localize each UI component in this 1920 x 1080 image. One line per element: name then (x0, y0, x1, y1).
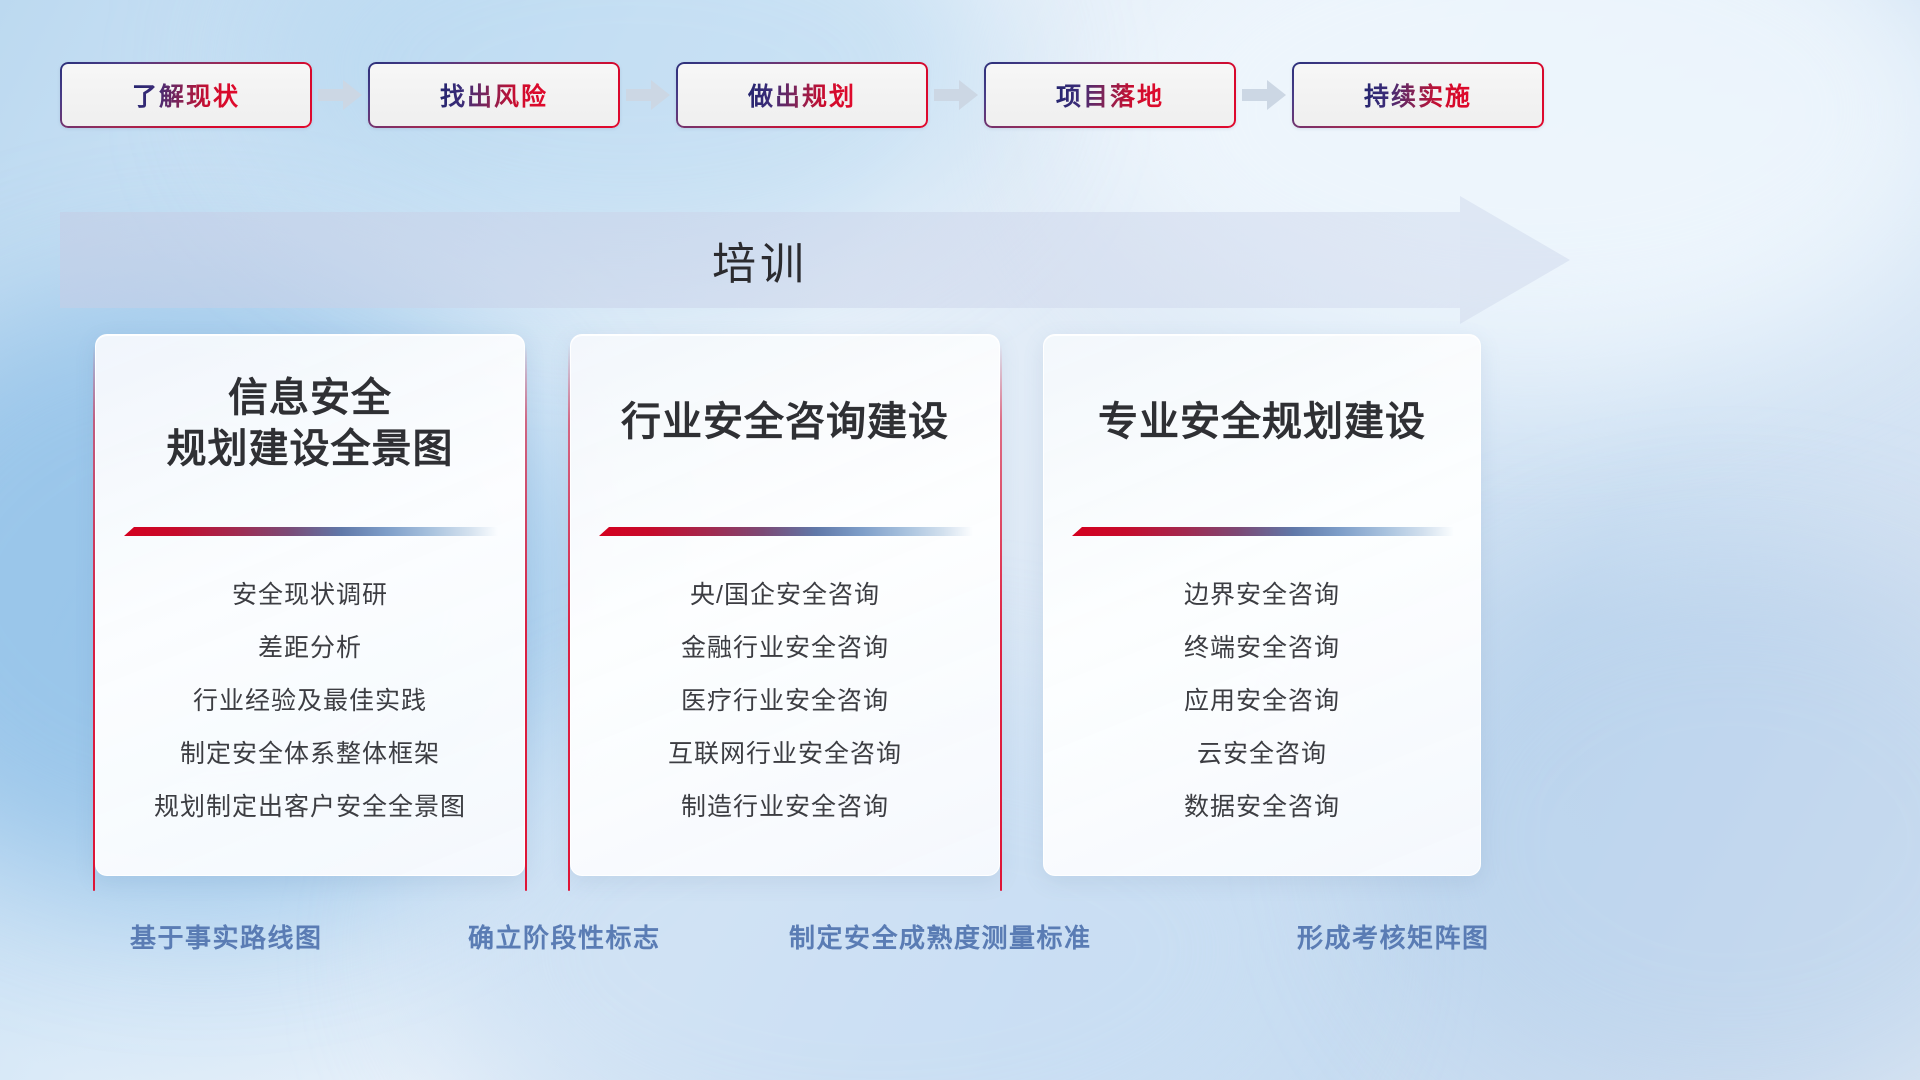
step-box-5[interactable]: 持续实施 (1292, 62, 1544, 128)
card-item-list: 央/国企安全咨询 金融行业安全咨询 医疗行业安全咨询 互联网行业安全咨询 制造行… (571, 575, 999, 823)
card-list-item: 规划制定出客户安全全景图 (96, 787, 524, 823)
step-box-4[interactable]: 项目落地 (984, 62, 1236, 128)
step-label: 持续实施 (1364, 77, 1472, 113)
step-label: 做出规划 (748, 77, 856, 113)
card-edge-accent (568, 345, 570, 891)
card-list-item: 行业经验及最佳实践 (96, 681, 524, 717)
step-box-3[interactable]: 做出规划 (676, 62, 928, 128)
card-edge-accent (525, 345, 527, 891)
card-list-item: 制造行业安全咨询 (571, 787, 999, 823)
card-2[interactable]: 行业安全咨询建设 央/国企安全咨询 金融行业安全咨询 医疗行业安全咨询 互联网行… (570, 334, 1000, 876)
card-divider-rule (124, 527, 498, 536)
step-label: 了解现状 (132, 77, 240, 113)
caption-row: 基于事实路线图 确立阶段性标志 制定安全成熟度测量标准 形成考核矩阵图 (0, 918, 1920, 964)
card-list-item: 制定安全体系整体框架 (96, 734, 524, 770)
caption-2: 确立阶段性标志 (468, 918, 661, 955)
step-box-1[interactable]: 了解现状 (60, 62, 312, 128)
card-list-item: 云安全咨询 (1044, 734, 1480, 770)
card-list-item: 央/国企安全咨询 (571, 575, 999, 611)
card-3[interactable]: 专业安全规划建设 边界安全咨询 终端安全咨询 应用安全咨询 云安全咨询 数据安全… (1043, 334, 1481, 876)
card-list-item: 终端安全咨询 (1044, 628, 1480, 664)
step-arrow-icon-4 (1236, 78, 1292, 112)
card-title: 专业安全规划建设 (1044, 397, 1480, 448)
card-list-item: 安全现状调研 (96, 575, 524, 611)
card-list-item: 互联网行业安全咨询 (571, 734, 999, 770)
step-label: 找出风险 (440, 77, 548, 113)
caption-4: 形成考核矩阵图 (1297, 918, 1490, 955)
card-row: 信息安全 规划建设全景图 安全现状调研 差距分析 行业经验及最佳实践 制定安全体… (0, 334, 1920, 876)
step-label: 项目落地 (1056, 77, 1164, 113)
caption-3: 制定安全成熟度测量标准 (789, 918, 1092, 955)
banner-title: 培训 (60, 212, 1460, 308)
slide-canvas: 了解现状 找出风险 做出规划 项目落地 (0, 0, 1920, 1080)
card-list-item: 差距分析 (96, 628, 524, 664)
card-divider-rule (599, 527, 973, 536)
card-item-list: 安全现状调研 差距分析 行业经验及最佳实践 制定安全体系整体框架 规划制定出客户… (96, 575, 524, 823)
card-divider-rule (1072, 527, 1454, 536)
step-arrow-icon-2 (620, 78, 676, 112)
card-title: 信息安全 规划建设全景图 (96, 373, 524, 475)
card-title: 行业安全咨询建设 (571, 397, 999, 448)
card-list-item: 数据安全咨询 (1044, 787, 1480, 823)
training-banner: 培训 (60, 212, 1520, 308)
card-1[interactable]: 信息安全 规划建设全景图 安全现状调研 差距分析 行业经验及最佳实践 制定安全体… (95, 334, 525, 876)
banner-arrow-head-icon (1460, 196, 1570, 324)
card-edge-accent (93, 345, 95, 891)
step-arrow-icon-3 (928, 78, 984, 112)
card-item-list: 边界安全咨询 终端安全咨询 应用安全咨询 云安全咨询 数据安全咨询 (1044, 575, 1480, 823)
card-list-item: 金融行业安全咨询 (571, 628, 999, 664)
caption-1: 基于事实路线图 (130, 918, 323, 955)
card-list-item: 应用安全咨询 (1044, 681, 1480, 717)
card-edge-accent (1000, 345, 1002, 891)
process-step-row: 了解现状 找出风险 做出规划 项目落地 (60, 62, 1860, 128)
card-list-item: 边界安全咨询 (1044, 575, 1480, 611)
step-arrow-icon-1 (312, 78, 368, 112)
step-box-2[interactable]: 找出风险 (368, 62, 620, 128)
card-list-item: 医疗行业安全咨询 (571, 681, 999, 717)
